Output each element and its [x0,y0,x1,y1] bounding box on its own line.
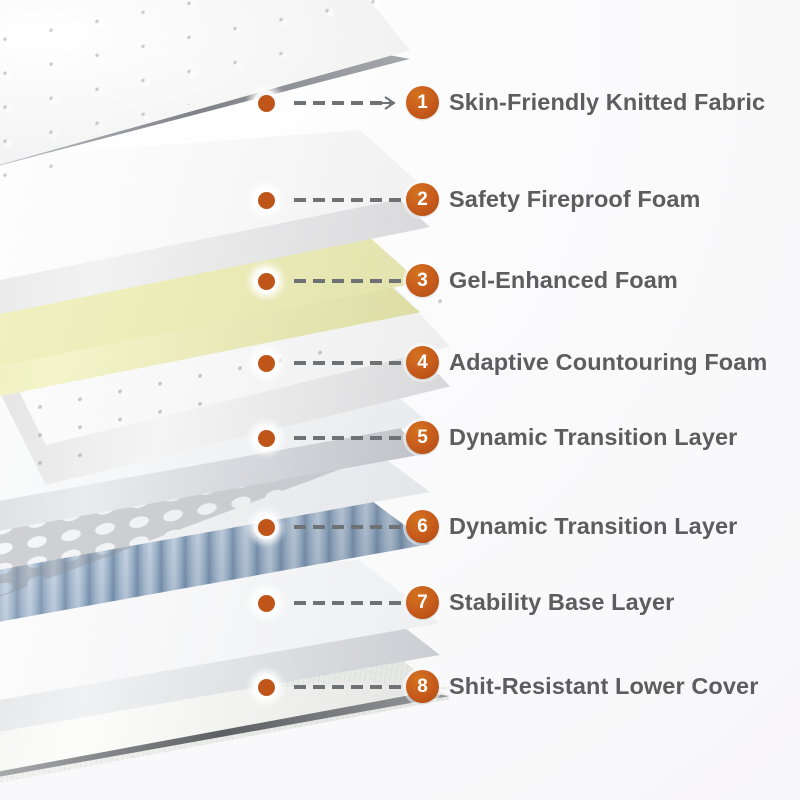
callout-dot-marker [253,268,279,294]
leader-dashed-line [294,601,406,605]
callout-dot-icon [258,519,275,536]
callout-1: 1Skin-Friendly Knitted Fabric [0,86,800,120]
callout-4: 4Adaptive Countouring Foam [0,346,800,380]
callout-label-2: Safety Fireproof Foam [449,186,701,213]
callout-2: 2Safety Fireproof Foam [0,183,800,217]
callout-number-text: 4 [417,352,428,374]
callout-dot-marker [253,674,279,700]
callout-number-text: 5 [417,427,428,449]
callout-7: 7Stability Base Layer [0,586,800,620]
callout-dot-icon [258,355,275,372]
callout-dot-icon [258,679,275,696]
callout-number-badge-2[interactable]: 2 [406,183,439,216]
callout-dot-icon [258,430,275,447]
callout-label-4: Adaptive Countouring Foam [449,349,767,376]
callout-number-text: 7 [417,592,428,614]
callout-8: 8Shit-Resistant Lower Cover [0,670,800,704]
callout-number-text: 2 [417,189,428,211]
callout-dot-marker [253,514,279,540]
callout-dot-marker [253,425,279,451]
callout-dot-marker [253,590,279,616]
mattress-layer-diagram: 1Skin-Friendly Knitted Fabric2Safety Fir… [0,0,800,800]
callout-dot-marker [253,187,279,213]
callout-dot-marker [253,90,279,116]
leader-dashed-line [294,685,406,689]
callout-number-badge-5[interactable]: 5 [406,421,439,454]
callout-dot-icon [258,273,275,290]
callout-number-text: 8 [417,676,428,698]
callout-6: 6Dynamic Transition Layer [0,510,800,544]
callout-label-3: Gel-Enhanced Foam [449,267,678,294]
callout-5: 5Dynamic Transition Layer [0,421,800,455]
leader-dashed-line [294,279,406,283]
callout-label-6: Dynamic Transition Layer [449,513,737,540]
callout-number-badge-1[interactable]: 1 [406,86,439,119]
callout-number-text: 6 [417,516,428,538]
callout-dot-icon [258,95,275,112]
leader-dashed-line [294,525,406,529]
callout-label-7: Stability Base Layer [449,589,674,616]
callout-label-1: Skin-Friendly Knitted Fabric [449,89,765,116]
callout-dot-icon [258,595,275,612]
leader-arrowhead-icon [376,95,396,116]
callout-number-badge-4[interactable]: 4 [406,346,439,379]
callout-3: 3Gel-Enhanced Foam [0,264,800,298]
leader-dashed-line [294,361,406,365]
callout-dot-marker [253,350,279,376]
callout-label-5: Dynamic Transition Layer [449,424,737,451]
callout-label-8: Shit-Resistant Lower Cover [449,673,758,700]
leader-dashed-line [294,198,406,202]
callout-dot-icon [258,192,275,209]
callout-number-text: 3 [417,270,428,292]
callout-number-text: 1 [417,92,428,114]
callout-number-badge-8[interactable]: 8 [406,670,439,703]
leader-dashed-line [294,436,406,440]
callout-number-badge-3[interactable]: 3 [406,264,439,297]
callout-number-badge-7[interactable]: 7 [406,586,439,619]
callout-number-badge-6[interactable]: 6 [406,510,439,543]
